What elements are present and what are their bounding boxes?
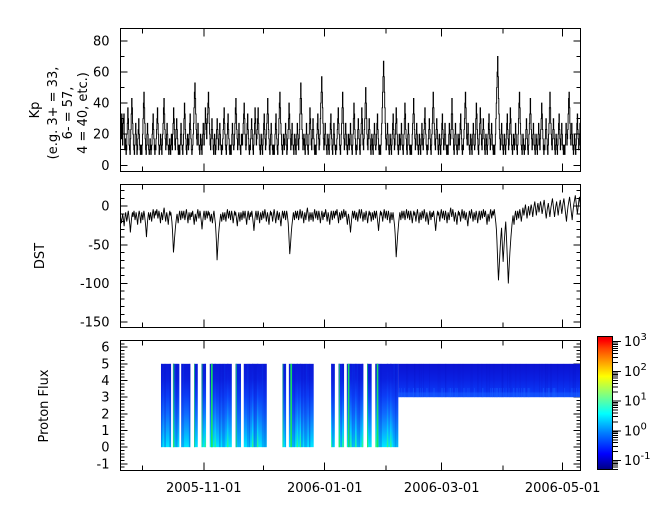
spectrogram-band: [181, 364, 182, 447]
spectrogram-band: [249, 364, 250, 447]
spectrogram-band: [423, 364, 424, 397]
spectrogram-band: [397, 364, 398, 447]
y-tick-label: 0: [101, 200, 109, 215]
spectrogram-band: [247, 364, 248, 447]
spectrogram-band: [358, 364, 359, 447]
spectrogram-band: [509, 364, 510, 397]
spectrogram-band: [239, 364, 241, 447]
x-tick-label: 2005-11-01: [166, 481, 242, 496]
spectrogram-band: [222, 364, 223, 447]
spectrogram-band: [252, 364, 253, 447]
spectrogram-band: [176, 364, 177, 447]
spectrogram-band: [446, 364, 447, 397]
spectrogram-band: [353, 364, 354, 447]
spectrogram-band: [331, 364, 332, 447]
spectrogram-band: [202, 364, 203, 447]
spectrogram-band: [429, 364, 430, 397]
scientific-plot-svg: Kp (e.g. 3+ = 33, 6- = 57, 4 = 40, etc.)…: [0, 0, 665, 523]
spectrogram-band: [224, 364, 225, 447]
dst-axis-label: DST: [33, 243, 48, 269]
spectrogram-band: [539, 364, 540, 397]
spectrogram-band: [164, 364, 165, 447]
spectrogram-band: [550, 364, 551, 397]
y-tick-label: 40: [93, 97, 110, 112]
spectrogram-band: [421, 364, 422, 397]
y-tick-label: 0: [101, 441, 109, 456]
kp-axis-note-line-1: (e.g. 3+ = 33,: [46, 67, 61, 160]
spectrogram-band: [407, 364, 408, 397]
spectrogram-band: [542, 364, 543, 397]
spectrogram-band: [297, 364, 298, 447]
spectrogram-band: [332, 364, 333, 447]
spectrogram-band: [262, 364, 263, 447]
spectrogram-band: [292, 364, 293, 447]
spectrogram-band: [189, 364, 190, 447]
y-tick-label: 20: [93, 128, 110, 143]
spectrogram-band: [173, 364, 174, 447]
spectrogram-band: [263, 364, 264, 447]
spectrogram-band: [445, 364, 446, 397]
spectrogram-band: [362, 364, 363, 447]
spectrogram-band: [379, 364, 380, 447]
colorbar-gradient: [597, 336, 613, 470]
spectrogram-band: [161, 364, 162, 447]
y-tick-label: 4: [101, 374, 109, 389]
spectrogram-band: [472, 364, 473, 397]
figure-root: Kp (e.g. 3+ = 33, 6- = 57, 4 = 40, etc.)…: [0, 0, 665, 523]
spectrogram-band: [283, 364, 284, 447]
kp-axis-note-line-3: 4 = 40, etc.): [76, 72, 91, 154]
spectrogram-band: [406, 364, 407, 397]
spectrogram-band: [547, 364, 548, 397]
spectrogram-band: [478, 364, 479, 397]
spectrogram-band: [301, 364, 302, 447]
y-tick-label: 60: [93, 66, 110, 81]
spectrogram-band: [393, 364, 394, 447]
spectrogram-band: [342, 364, 344, 447]
y-tick-label: 5: [101, 357, 109, 372]
spectrogram-band: [486, 364, 487, 397]
spectrogram-band: [414, 364, 415, 397]
spectrogram-band: [348, 364, 350, 447]
spectrogram-band: [458, 364, 459, 397]
spectrogram-band: [304, 364, 305, 447]
spectrogram-band: [471, 364, 472, 397]
spectrogram-band: [463, 364, 464, 397]
x-tick-label: 2006-03-01: [404, 481, 480, 496]
spectrogram-band: [494, 364, 495, 397]
spectrogram-band: [285, 364, 286, 447]
spectrogram-band: [377, 364, 379, 447]
x-tick-label: 2006-05-01: [525, 481, 601, 496]
spectrogram-band: [390, 364, 391, 447]
spectrogram-band: [516, 364, 517, 397]
spectrogram-band: [355, 364, 356, 447]
y-tick-label: -150: [80, 316, 110, 331]
y-tick-label: 2: [101, 407, 109, 422]
spectrogram-band: [210, 364, 232, 447]
spectrogram-band: [511, 364, 512, 397]
spectrogram-band: [367, 364, 368, 447]
spectrogram-band: [257, 364, 258, 447]
spectrogram-band: [557, 364, 558, 397]
spectrogram-band: [380, 364, 381, 447]
spectrogram-band: [482, 364, 483, 397]
spectrogram-band: [415, 364, 416, 397]
spectrogram-band: [357, 364, 358, 447]
y-tick-label: -50: [88, 238, 109, 253]
spectrogram-band: [340, 364, 342, 447]
spectrogram-band: [546, 364, 547, 397]
spectrogram-band: [194, 364, 195, 447]
spectrogram-band: [489, 364, 490, 397]
y-tick-label: 0: [101, 159, 109, 174]
spectrogram-band: [339, 364, 340, 447]
spectrogram-band: [300, 364, 301, 447]
spectrogram-band: [570, 364, 571, 397]
y-tick-label: 3: [101, 391, 109, 406]
spectrogram-band: [573, 364, 574, 397]
spectrogram-band: [545, 364, 546, 397]
y-tick-label: 80: [93, 34, 110, 49]
y-tick-label: -100: [80, 277, 110, 292]
spectrogram-band: [520, 364, 521, 397]
spectrogram-band: [375, 364, 376, 447]
spectrogram-band: [551, 364, 552, 397]
spectrogram-band: [398, 364, 580, 397]
spectrogram-band: [227, 364, 228, 447]
spectrogram-band: [574, 364, 575, 397]
spectrogram-band: [573, 364, 574, 397]
spectrogram-band: [507, 364, 508, 397]
spectrogram-band: [290, 364, 292, 447]
spectrogram-band: [255, 364, 256, 447]
spectrogram-band: [502, 364, 503, 397]
kp-axis-note-line-2: 6- = 57,: [61, 87, 76, 140]
spectrogram-band: [350, 364, 351, 447]
spectrogram-band: [488, 364, 489, 397]
spectrogram-band: [352, 364, 353, 447]
y-tick-label: -1: [97, 457, 110, 472]
spectrogram-band: [237, 364, 239, 447]
spectrogram-band: [438, 364, 439, 397]
spectrogram-band: [219, 364, 220, 447]
spectrogram-band: [183, 364, 184, 447]
spectrogram-band: [169, 364, 170, 447]
spectrogram-band: [440, 364, 441, 397]
spectrogram-band: [477, 364, 478, 397]
spectrogram-band: [454, 364, 455, 397]
spectrogram-band: [175, 364, 176, 447]
spectrogram-band: [294, 364, 295, 447]
spectrogram-band: [564, 364, 565, 397]
x-tick-label: 2006-01-01: [287, 481, 363, 496]
spectrogram-band: [575, 364, 576, 397]
spectrogram-band: [398, 364, 399, 397]
spectrogram-band: [460, 364, 461, 397]
proton-flux-axis-label: Proton Flux: [37, 369, 52, 442]
spectrogram-band: [211, 364, 213, 447]
spectrogram-band: [306, 364, 307, 447]
spectrogram-band: [205, 364, 206, 447]
y-tick-label: 1: [101, 424, 109, 439]
spectrogram-band: [309, 364, 310, 447]
spectrogram-band: [398, 393, 580, 398]
spectrogram-band: [534, 364, 535, 397]
spectrogram-band: [503, 364, 504, 397]
spectrogram-band: [526, 364, 527, 397]
spectrogram-band: [387, 364, 388, 447]
spectrogram-band: [395, 364, 396, 447]
spectrogram-band: [254, 364, 255, 447]
spectrogram-band: [419, 364, 420, 397]
kp-axis-label: Kp: [28, 102, 43, 119]
spectrogram-band: [236, 364, 237, 447]
y-tick-label: 6: [101, 341, 109, 356]
spectrogram-band: [265, 364, 266, 447]
spectrogram-band: [502, 364, 503, 397]
spectrogram-band: [214, 364, 215, 447]
